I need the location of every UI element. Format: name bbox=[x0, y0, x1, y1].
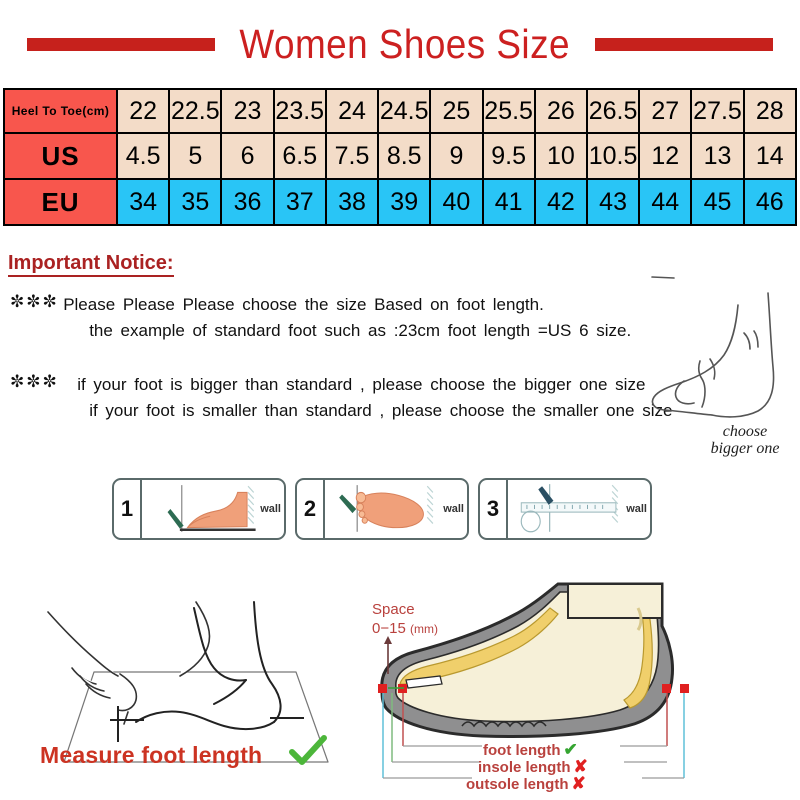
caption-line-2: bigger one bbox=[690, 440, 800, 457]
cell-eu: 42 bbox=[535, 179, 587, 225]
step-illustration-foot-top: wall bbox=[325, 480, 467, 538]
cell-cm: 27 bbox=[639, 89, 691, 133]
cell-eu: 38 bbox=[326, 179, 378, 225]
cell-cm: 28 bbox=[744, 89, 796, 133]
cell-us: 5 bbox=[169, 133, 221, 179]
cell-us: 9 bbox=[430, 133, 482, 179]
cell-cm: 25.5 bbox=[483, 89, 535, 133]
length-label: outsole length bbox=[466, 776, 569, 793]
cell-us: 6.5 bbox=[274, 133, 326, 179]
step-number: 2 bbox=[297, 480, 325, 538]
length-row-outsole: outsole length✘ bbox=[466, 774, 586, 794]
notice-line: if your foot is smaller than standard , … bbox=[63, 398, 672, 424]
wall-label: wall bbox=[260, 503, 281, 515]
cell-cm: 24.5 bbox=[378, 89, 430, 133]
wall-label: wall bbox=[626, 503, 647, 515]
cell-eu: 45 bbox=[691, 179, 743, 225]
cell-eu: 39 bbox=[378, 179, 430, 225]
space-label-line-1: Space bbox=[372, 600, 438, 619]
cell-cm: 23.5 bbox=[274, 89, 326, 133]
table-row-cm: Heel To Toe(cm) 22 22.5 23 23.5 24 24.5 … bbox=[4, 89, 796, 133]
cell-eu: 46 bbox=[744, 179, 796, 225]
cell-us: 13 bbox=[691, 133, 743, 179]
red-cross-icon: ✘ bbox=[572, 774, 586, 793]
page-title-bar: Women Shoes Size bbox=[0, 18, 800, 70]
table-row-us: US 4.5 5 6 6.5 7.5 8.5 9 9.5 10 10.5 12 … bbox=[4, 133, 796, 179]
table-row-eu: EU 34 35 36 37 38 39 40 41 42 43 44 45 4… bbox=[4, 179, 796, 225]
cell-eu: 37 bbox=[274, 179, 326, 225]
cell-cm: 23 bbox=[221, 89, 273, 133]
cell-cm: 24 bbox=[326, 89, 378, 133]
notice-line: Please Please Please choose the size Bas… bbox=[63, 292, 631, 318]
cell-eu: 44 bbox=[639, 179, 691, 225]
cell-eu: 36 bbox=[221, 179, 273, 225]
notice-block-2: ✼✼✼ if your foot is bigger than standard… bbox=[10, 372, 672, 424]
foot-sketch-caption: choose bigger one bbox=[690, 423, 800, 457]
cell-cm: 27.5 bbox=[691, 89, 743, 133]
important-notice-heading: Important Notice: bbox=[8, 252, 174, 277]
title-rule-right bbox=[595, 38, 773, 51]
cell-us: 8.5 bbox=[378, 133, 430, 179]
cell-us: 10.5 bbox=[587, 133, 639, 179]
space-unit: (mm) bbox=[410, 622, 438, 636]
caption-line-1: choose bbox=[690, 423, 800, 440]
cell-eu: 43 bbox=[587, 179, 639, 225]
green-check-icon bbox=[288, 735, 328, 774]
cell-cm: 26 bbox=[535, 89, 587, 133]
step-number: 1 bbox=[114, 480, 142, 538]
cell-cm: 26.5 bbox=[587, 89, 639, 133]
cell-us: 6 bbox=[221, 133, 273, 179]
foot-side-sketch-icon bbox=[640, 275, 800, 440]
row-label-cm: Heel To Toe(cm) bbox=[4, 89, 117, 133]
cell-cm: 22.5 bbox=[169, 89, 221, 133]
measure-foot-caption: Measure foot length bbox=[40, 742, 262, 769]
cell-cm: 22 bbox=[117, 89, 169, 133]
row-label-us: US bbox=[4, 133, 117, 179]
cell-eu: 41 bbox=[483, 179, 535, 225]
measure-steps: 1 wall 2 bbox=[112, 478, 652, 540]
step-illustration-foot-side: wall bbox=[142, 480, 284, 538]
cell-us: 9.5 bbox=[483, 133, 535, 179]
asterisk-icon: ✼✼✼ bbox=[10, 372, 59, 392]
notice-block-1: ✼✼✼ Please Please Please choose the size… bbox=[10, 292, 631, 344]
cell-us: 7.5 bbox=[326, 133, 378, 179]
notice-line: if your foot is bigger than standard , p… bbox=[63, 372, 672, 398]
size-chart-table: Heel To Toe(cm) 22 22.5 23 23.5 24 24.5 … bbox=[3, 88, 797, 226]
step-panel-1: 1 wall bbox=[112, 478, 286, 540]
title-rule-left bbox=[27, 38, 215, 51]
page-title: Women Shoes Size bbox=[234, 21, 575, 68]
cell-eu: 35 bbox=[169, 179, 221, 225]
space-label: Space 0−15 (mm) bbox=[372, 600, 438, 639]
step-panel-3: 3 wa bbox=[478, 478, 652, 540]
notice-line: the example of standard foot such as :23… bbox=[63, 318, 631, 344]
cell-cm: 25 bbox=[430, 89, 482, 133]
step-illustration-ruler: wall bbox=[508, 480, 650, 538]
space-label-line-2: 0−15 bbox=[372, 620, 406, 637]
step-number: 3 bbox=[480, 480, 508, 538]
wall-label: wall bbox=[443, 503, 464, 515]
asterisk-icon: ✼✼✼ bbox=[10, 292, 59, 312]
cell-us: 12 bbox=[639, 133, 691, 179]
cell-us: 14 bbox=[744, 133, 796, 179]
cell-eu: 34 bbox=[117, 179, 169, 225]
cell-us: 4.5 bbox=[117, 133, 169, 179]
cell-eu: 40 bbox=[430, 179, 482, 225]
row-label-eu: EU bbox=[4, 179, 117, 225]
cell-us: 10 bbox=[535, 133, 587, 179]
step-panel-2: 2 wall bbox=[295, 478, 469, 540]
